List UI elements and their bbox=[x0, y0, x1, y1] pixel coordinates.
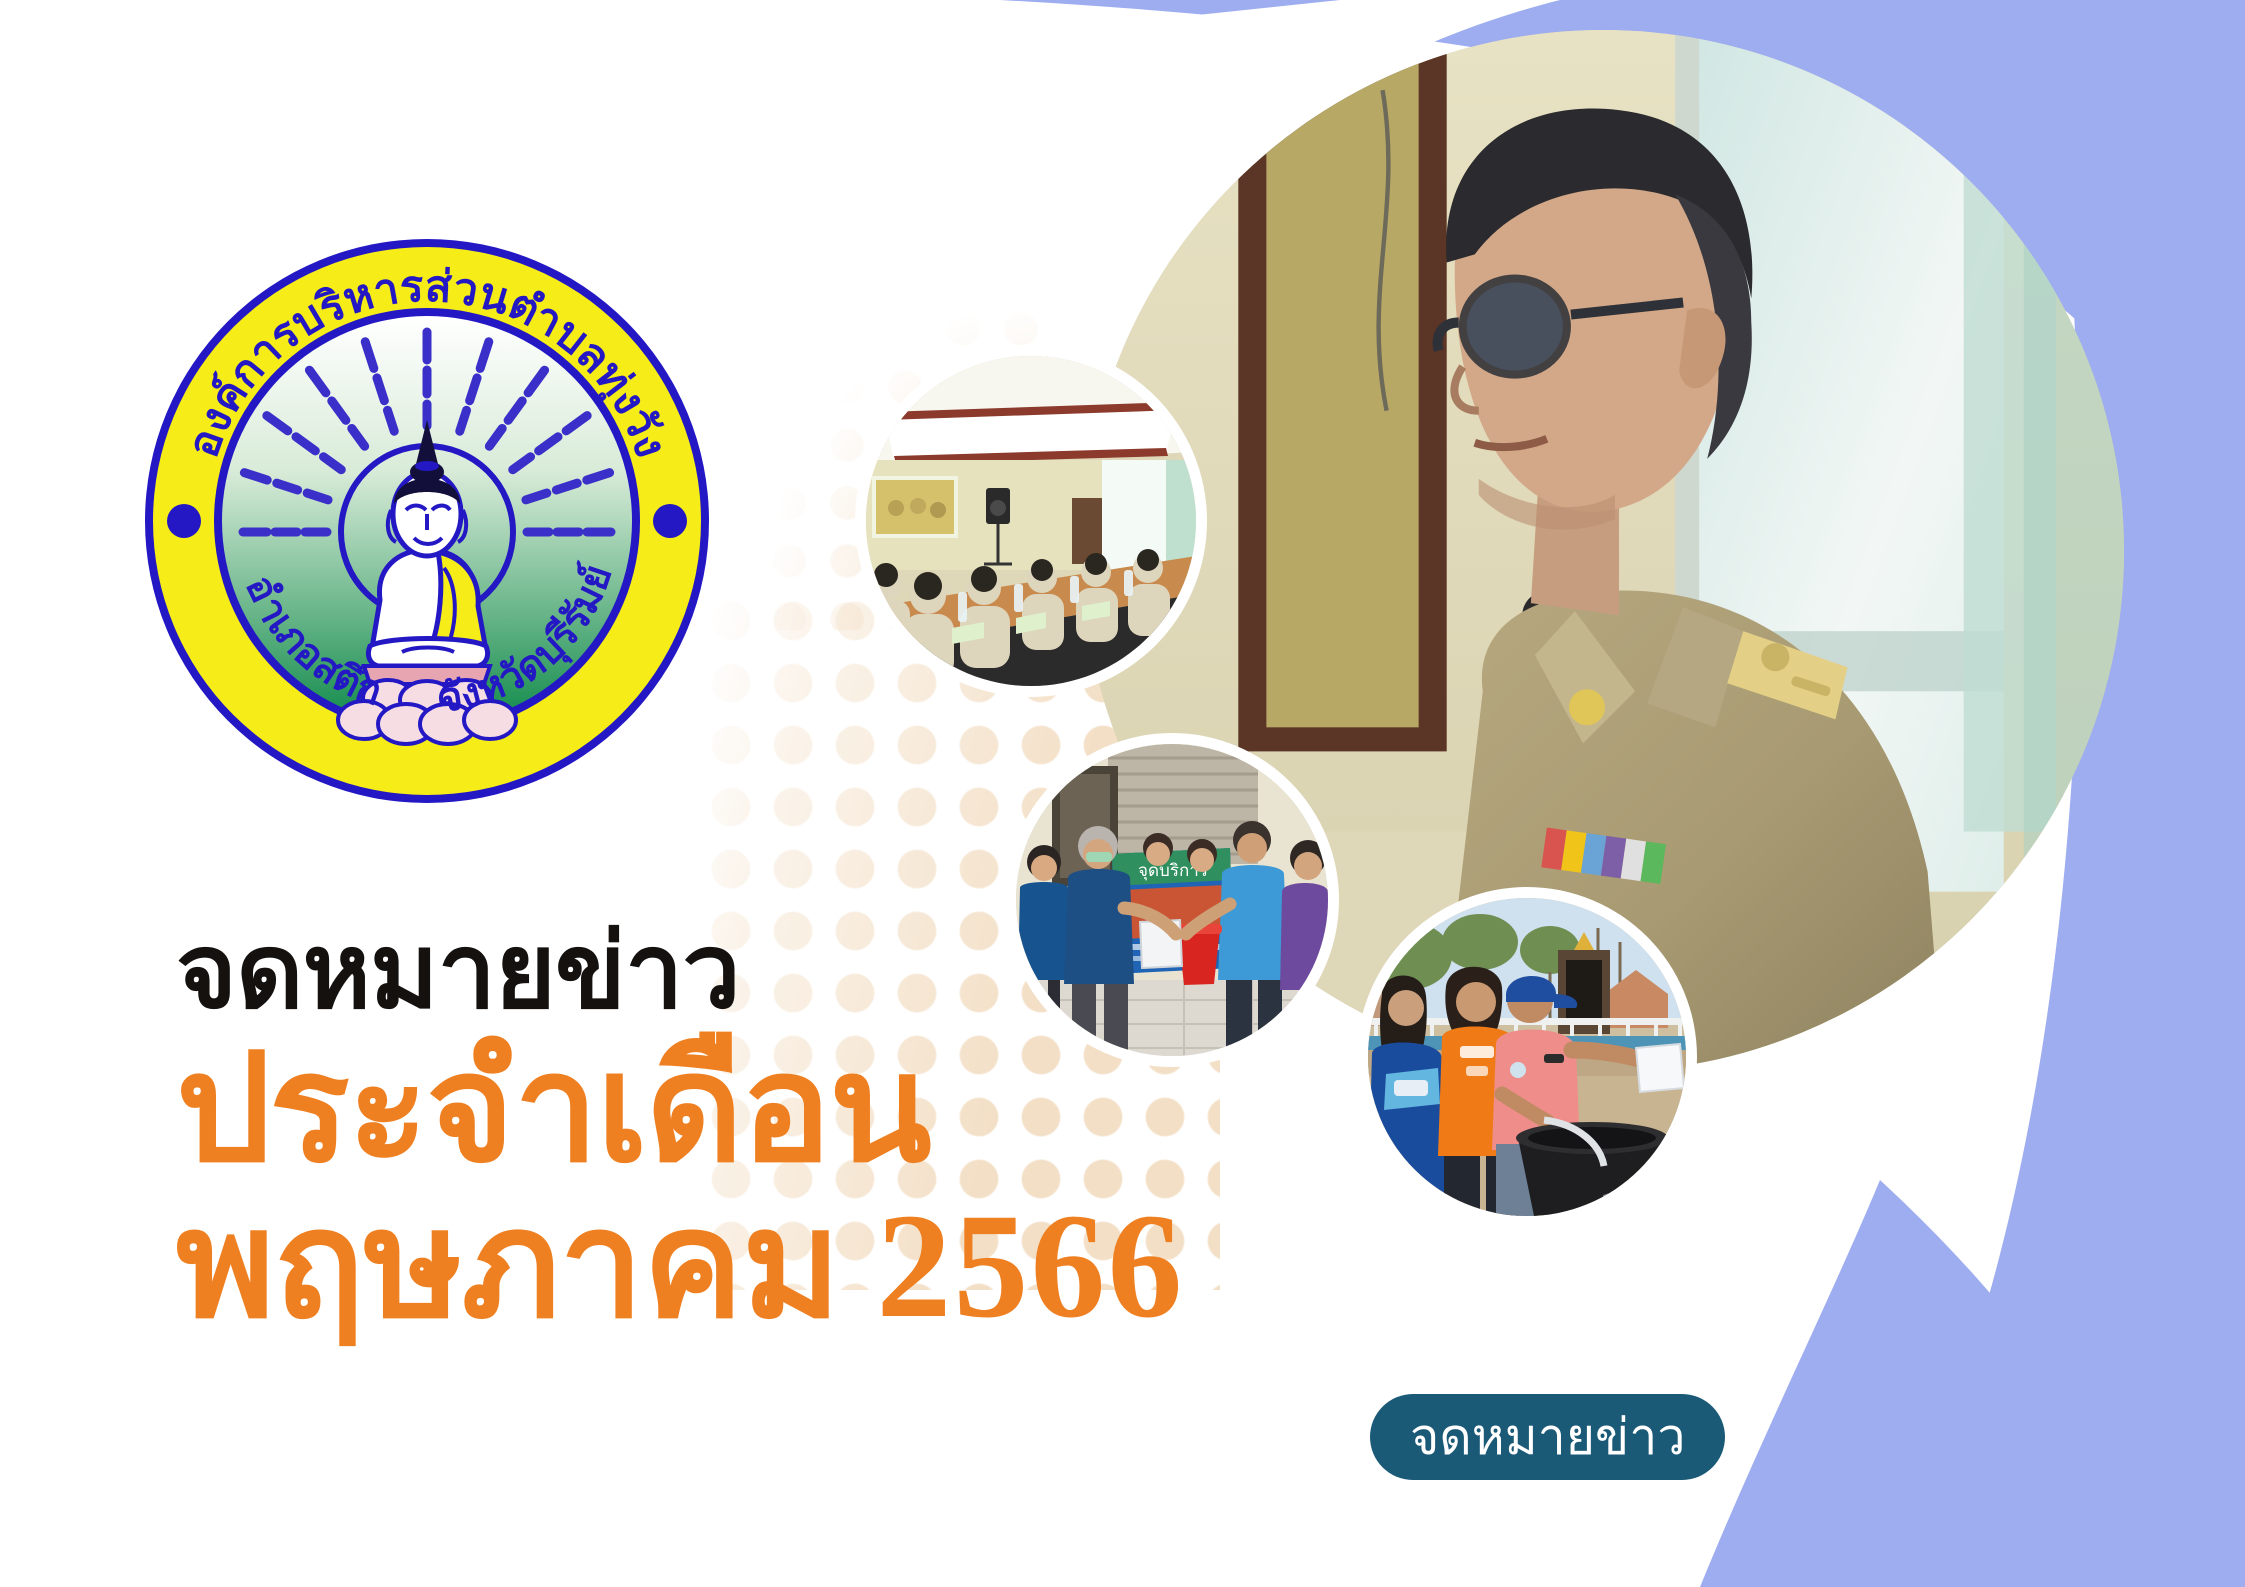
photo-outdoor-community-activity bbox=[1368, 898, 1686, 1216]
hero-shape-tail bbox=[1760, 900, 2190, 1460]
photo-council-meeting bbox=[866, 356, 1196, 686]
poster-canvas: จุดบริการ bbox=[0, 0, 2245, 1587]
headline-block: จดหมายข่าว ประจำเดือน พฤษภาคม 2566 bbox=[176, 920, 1356, 1344]
organization-emblem: องค์การบริหารส่วนตำบลทุ่งวัง อำเภอสตึก จ… bbox=[138, 232, 716, 810]
photo-council-meeting-art bbox=[866, 356, 1196, 686]
newsletter-badge[interactable]: จดหมายข่าว bbox=[1370, 1394, 1725, 1480]
headline-line-1: จดหมายข่าว bbox=[176, 920, 1356, 1026]
headline-year: 2566 bbox=[876, 1183, 1184, 1349]
headline-month: พฤษภาคม bbox=[176, 1183, 840, 1349]
headline-line-2: ประจำเดือน bbox=[176, 1032, 1356, 1188]
headline-line-3: พฤษภาคม 2566 bbox=[176, 1188, 1356, 1344]
photo-outdoor-community-activity-art bbox=[1368, 898, 1686, 1216]
organization-emblem-art: องค์การบริหารส่วนตำบลทุ่งวัง อำเภอสตึก จ… bbox=[138, 232, 716, 810]
